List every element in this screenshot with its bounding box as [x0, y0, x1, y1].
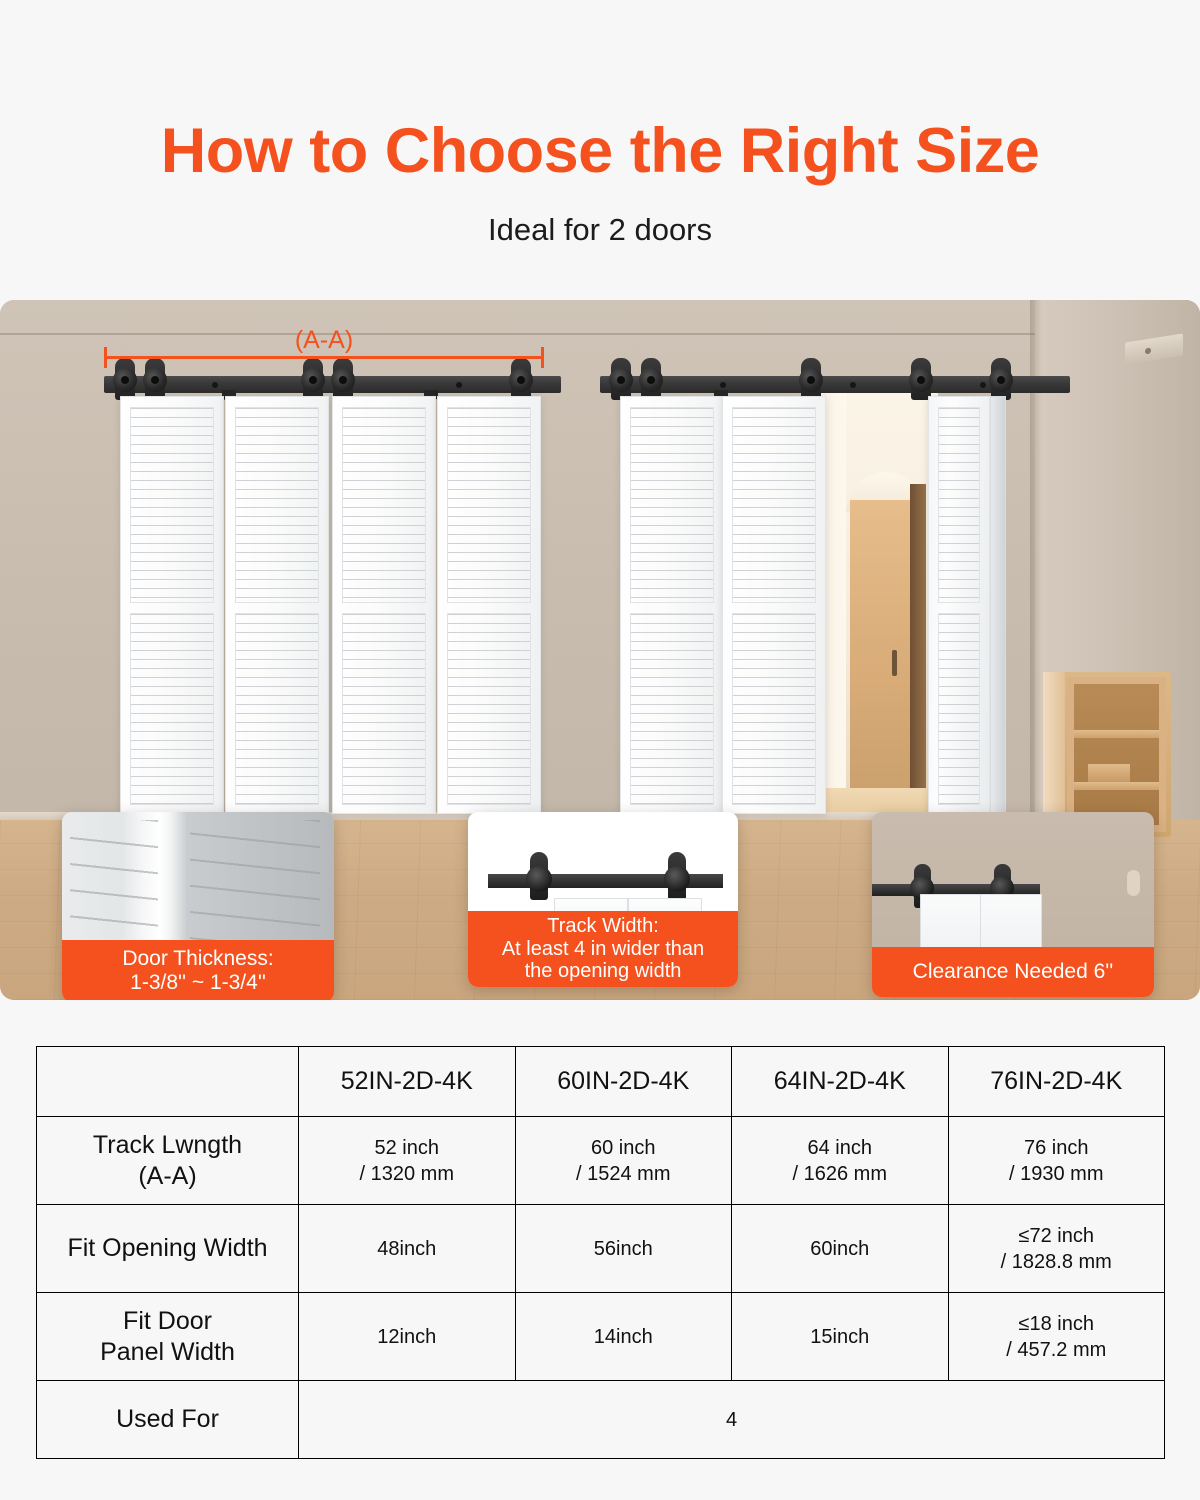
bookshelf-plank: [1074, 730, 1159, 738]
bifold-door-panel: [225, 396, 329, 814]
roller-hanger: [664, 852, 690, 900]
size-guide-page: How to Choose the Right Size Ideal for 2…: [0, 0, 1200, 1500]
callout-track-line1: Track Width:: [547, 915, 659, 937]
table-col-header-3: 76IN-2D-4K: [948, 1047, 1165, 1117]
roller-hanger: [526, 852, 552, 900]
roller-hanger: [908, 358, 934, 400]
table-cell: 76 inch / 1930 mm: [948, 1117, 1165, 1205]
table-header-row: 52IN-2D-4K 60IN-2D-4K 64IN-2D-4K 76IN-2D…: [37, 1047, 1165, 1117]
hallway-wood-door: [850, 500, 910, 800]
table-cell: 60inch: [732, 1205, 949, 1293]
table-row: Fit Opening Width 48inch 56inch 60inch ≤…: [37, 1205, 1165, 1293]
bifold-door-panel: [722, 396, 826, 814]
table-row: Used For 4: [37, 1381, 1165, 1459]
callout-clearance-bar: Clearance Needed 6'': [872, 947, 1154, 997]
table-cell: ≤18 inch / 457.2 mm: [948, 1293, 1165, 1381]
callout-track-line2: At least 4 in wider than: [502, 938, 704, 960]
bifold-door-panel: [120, 396, 224, 814]
bifold-door-folded-edge: [990, 396, 1006, 814]
page-title: How to Choose the Right Size: [0, 118, 1200, 184]
bifold-door-panel: [332, 396, 436, 814]
table-cell: 14inch: [515, 1293, 732, 1381]
table-cell: ≤72 inch / 1828.8 mm: [948, 1205, 1165, 1293]
spec-table: 52IN-2D-4K 60IN-2D-4K 64IN-2D-4K 76IN-2D…: [36, 1046, 1165, 1459]
table-row: Track Lwngth (A-A) 52 inch / 1320 mm 60 …: [37, 1117, 1165, 1205]
table-row: Fit Door Panel Width 12inch 14inch 15inc…: [37, 1293, 1165, 1381]
callout-door-thickness-bar: Door Thickness: 1-3/8'' ~ 1-3/4'': [62, 940, 334, 1000]
table-cell: 56inch: [515, 1205, 732, 1293]
callout-door-thickness: Door Thickness: 1-3/8'' ~ 1-3/4'': [62, 812, 334, 1000]
row-label-line1: Fit Opening Width: [67, 1234, 267, 1262]
row-label-track-length: Track Lwngth (A-A): [37, 1117, 299, 1205]
row-label-line2: (A-A): [138, 1162, 196, 1190]
wall-recess-handle: [1127, 870, 1140, 896]
bookshelf-item: [1088, 764, 1130, 782]
roller-hanger: [798, 358, 824, 400]
callout-clearance-line1: Clearance Needed 6'': [913, 960, 1114, 984]
page-subtitle: Ideal for 2 doors: [0, 212, 1200, 248]
dimension-aa-label: (A-A): [104, 326, 544, 355]
dimension-aa-cap-left: [104, 347, 107, 368]
row-label-used-for: Used For: [37, 1381, 299, 1459]
roller-hanger: [988, 358, 1014, 400]
table-col-header-1: 60IN-2D-4K: [515, 1047, 732, 1117]
roller-hanger: [608, 358, 634, 400]
row-label-fit-door-panel-width: Fit Door Panel Width: [37, 1293, 299, 1381]
row-label-line1: Fit Door: [123, 1307, 212, 1335]
spec-table-wrapper: 52IN-2D-4K 60IN-2D-4K 64IN-2D-4K 76IN-2D…: [36, 1046, 1164, 1459]
dimension-aa: (A-A): [104, 332, 544, 372]
bifold-door-panel: [620, 396, 724, 814]
bifold-door-panel: [437, 396, 541, 814]
callout-clearance: Clearance Needed 6'': [872, 812, 1154, 997]
bifold-door-panel-open: [928, 396, 990, 814]
room-photo: (A-A) Door Thickness: 1-3/8'' ~ 1-3/4'': [0, 300, 1200, 1000]
callout-track-line3: the opening width: [525, 960, 682, 982]
dimension-aa-cap-right: [541, 347, 544, 368]
table-cell: 64 inch / 1626 mm: [732, 1117, 949, 1205]
row-label-fit-opening-width: Fit Opening Width: [37, 1205, 299, 1293]
used-for-value: 4: [299, 1381, 1165, 1459]
row-label-line2: Panel Width: [100, 1338, 235, 1366]
hallway-opening: [818, 388, 938, 833]
callout-thickness-line2: 1-3/8'' ~ 1-3/4'': [130, 971, 266, 994]
table-cell: 52 inch / 1320 mm: [299, 1117, 516, 1205]
hallway-shadow-gap: [910, 484, 926, 804]
table-corner-cell: [37, 1047, 299, 1117]
table-cell: 12inch: [299, 1293, 516, 1381]
callout-thickness-line1: Door Thickness:: [122, 947, 273, 970]
callout-track-width: Track Width: At least 4 in wider than th…: [468, 812, 738, 987]
dimension-aa-line: [104, 356, 544, 359]
roller-hanger: [638, 358, 664, 400]
table-cell: 48inch: [299, 1205, 516, 1293]
bookshelf-plank: [1074, 782, 1159, 790]
table-col-header-0: 52IN-2D-4K: [299, 1047, 516, 1117]
row-label-line1: Track Lwngth: [93, 1131, 242, 1159]
table-cell: 15inch: [732, 1293, 949, 1381]
bookshelf-frame: [1067, 677, 1166, 832]
table-col-header-2: 64IN-2D-4K: [732, 1047, 949, 1117]
table-cell: 60 inch / 1524 mm: [515, 1117, 732, 1205]
callout-track-width-bar: Track Width: At least 4 in wider than th…: [468, 911, 738, 987]
